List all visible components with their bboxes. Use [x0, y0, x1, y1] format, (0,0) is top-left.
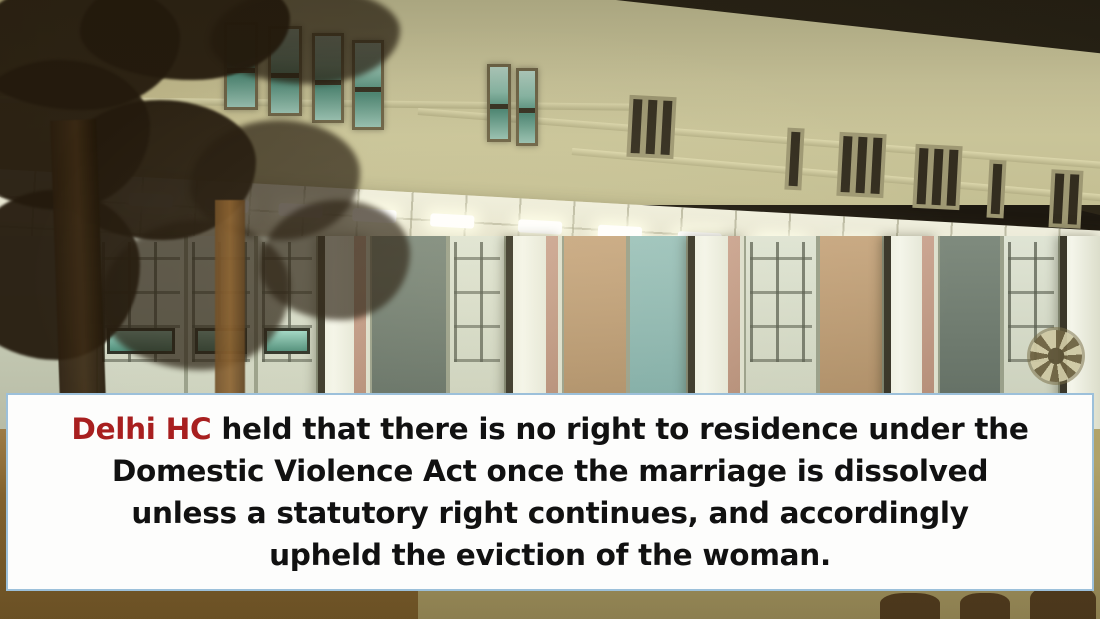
slit-window-group [836, 132, 886, 198]
slit-window-group [784, 128, 804, 191]
caption-line-1-rest: held that there is no right to residence… [221, 412, 1028, 446]
upper-window [352, 40, 384, 130]
ceiling-lamp [204, 198, 249, 213]
upper-window [312, 33, 344, 123]
news-card: Delhi HC held that there is no right to … [0, 0, 1100, 619]
lit-window-pane [264, 328, 310, 354]
lit-window-pane [107, 328, 176, 354]
caption-highlight: Delhi HC [71, 412, 211, 446]
caption-text: Delhi HC held that there is no right to … [41, 408, 1058, 576]
bay-window-grid [750, 242, 812, 362]
upper-window [487, 64, 511, 142]
slit-window-group [986, 160, 1006, 219]
slit-window-group [912, 144, 962, 210]
caption-line-4: upheld the eviction of the woman. [71, 534, 1028, 576]
lit-window-pane [195, 328, 248, 354]
caption-line-2: Domestic Violence Act once the marriage … [71, 450, 1028, 492]
upper-window [268, 26, 302, 116]
caption-line-3: unless a statutory right continues, and … [71, 492, 1028, 534]
ceiling-lamp [278, 203, 323, 218]
ceiling-lamp [518, 219, 563, 234]
bay-window-grid [454, 242, 500, 362]
slit-window-group [1049, 169, 1084, 229]
slit-window-group [626, 95, 676, 159]
ceiling-lamp [430, 213, 475, 228]
upper-window [516, 68, 538, 146]
upper-window [224, 22, 258, 110]
shrub [960, 593, 1010, 619]
caption-card: Delhi HC held that there is no right to … [6, 393, 1094, 591]
ceiling-lamp [129, 192, 174, 207]
rosette-emblem-icon [1030, 330, 1082, 382]
ceiling-lamp [352, 208, 397, 223]
caption-line-1: Delhi HC held that there is no right to … [71, 408, 1028, 450]
shrub [880, 593, 940, 619]
